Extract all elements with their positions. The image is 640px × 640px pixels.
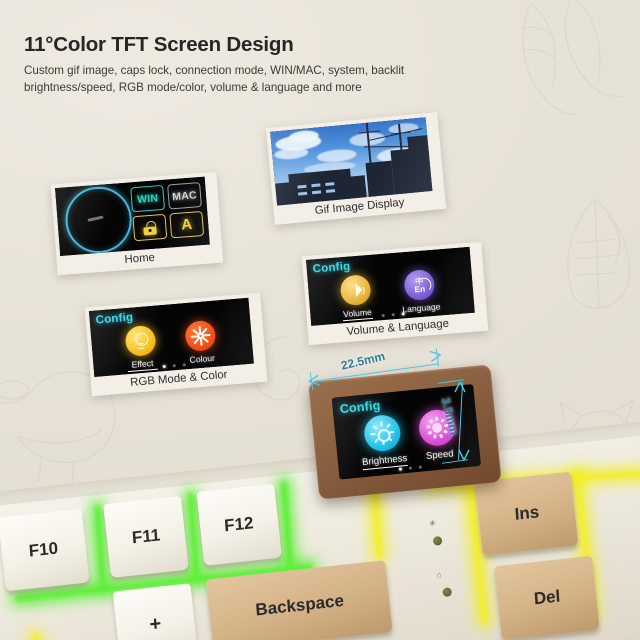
sun-icon [362,414,401,453]
key-f10[interactable]: F10 [0,509,90,592]
volume-language-screen: Config Volume 中 En Language [306,247,475,326]
config-label: Config [339,398,381,416]
brightness-option[interactable]: Brightness [358,413,408,470]
volume-option[interactable]: Volume [339,274,373,321]
home-dial-ring-icon [63,185,134,256]
feather-doodle-icon [555,195,640,315]
config-label: Config [95,312,133,327]
language-option[interactable]: 中 En Language [399,269,441,315]
gif-screen [270,117,432,205]
lock-badge [132,214,167,241]
language-icon: 中 En [403,269,435,301]
bluetooth-icon: ✳ [429,519,437,529]
keyboard-tft-module: Config Brightness [301,352,508,505]
page-dots [339,460,481,477]
key-del[interactable]: Del [494,556,599,640]
lock-icon [143,220,157,235]
page-subtitle: Custom gif image, caps lock, connection … [24,62,464,96]
home-screen: WIN MAC A [55,177,210,256]
key-f12[interactable]: F12 [196,484,282,566]
speaker-icon [339,274,371,306]
product-marketing-image: 11°Color TFT Screen Design Custom gif im… [0,0,640,640]
color-burst-icon [184,320,216,352]
leaf-doodle-icon [500,0,640,144]
volume-language-panel: Config Volume 中 En Language [302,242,489,345]
page-title: 11°Color TFT Screen Design [24,33,294,57]
speed-option[interactable]: Speed [417,408,458,462]
gif-screen-panel: Gif Image Display [266,112,446,225]
speed-icon [417,408,456,447]
battery-icon: ⌂ [436,570,442,579]
key-f11[interactable]: F11 [103,496,189,578]
config-label: Config [312,261,350,276]
mac-badge: MAC [167,182,202,209]
keyboard-tft-screen: Config Brightness [332,384,481,479]
bulb-icon [124,325,156,357]
key-plus[interactable]: + [113,583,199,640]
caps-lock-badge: A [169,211,204,238]
colour-option[interactable]: Colour [184,320,217,365]
speed-option-label: Speed [421,448,458,462]
win-badge: WIN [130,185,165,212]
home-screen-panel: WIN MAC A Home [51,172,223,275]
dot-doodle-icon [600,210,640,270]
